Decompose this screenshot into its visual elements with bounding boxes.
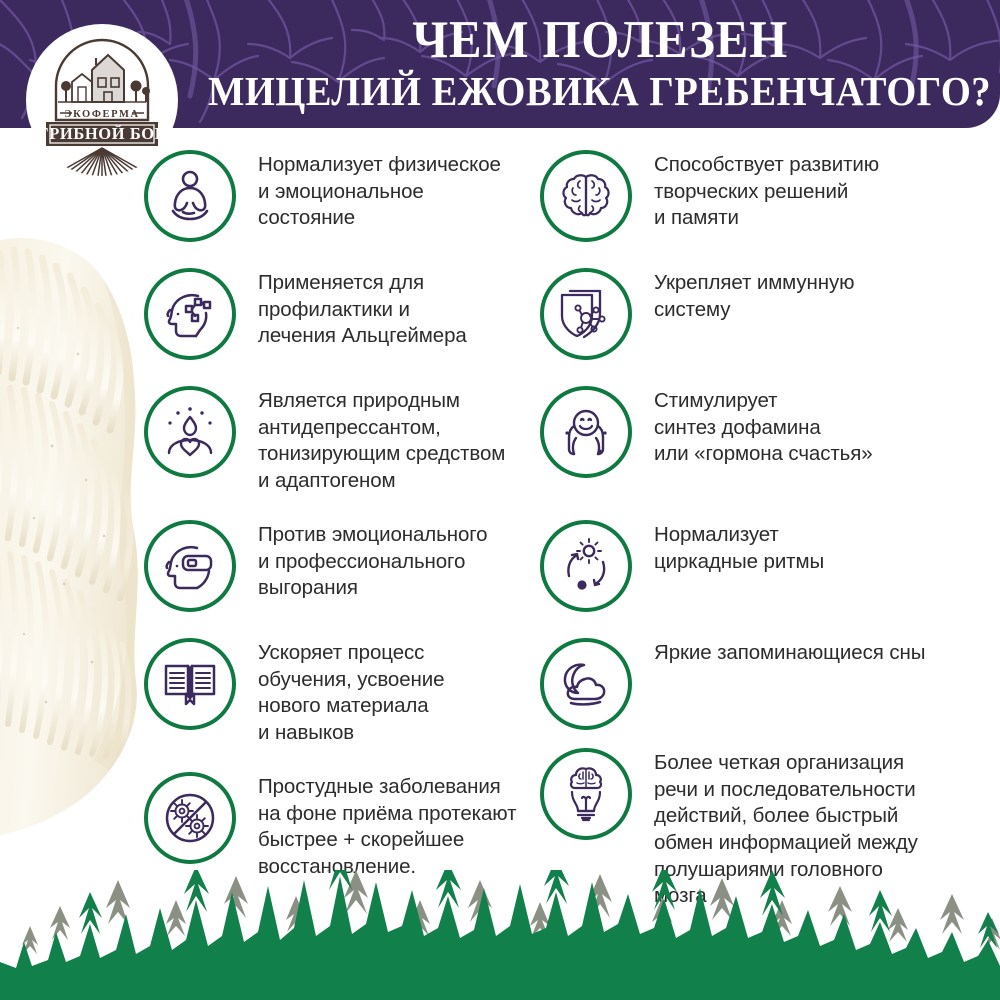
no-virus-icon	[144, 772, 236, 864]
benefit-item-10: Нормализует циркадные ритмы	[540, 520, 824, 612]
benefit-text: Против эмоционального и профессиональног…	[258, 520, 487, 602]
benefit-item-1: Нормализует физическое и эмоциональное с…	[144, 150, 501, 242]
benefit-text: Простудные заболевания на фоне приёма пр…	[258, 772, 516, 881]
benefit-item-6: Простудные заболевания на фоне приёма пр…	[144, 772, 516, 881]
sun-circadian-cycle-icon	[540, 520, 632, 612]
brand-logo[interactable]: ЭКОФЕРМА ГРИБНОЙ БОГ	[26, 24, 178, 176]
benefit-text: Способствует развитию творческих решений…	[654, 150, 879, 232]
benefit-text: Укрепляет иммунную систему	[654, 268, 854, 323]
logo-top-label: ЭКОФЕРМА	[64, 109, 139, 120]
benefit-text: Яркие запоминающиеся сны	[654, 638, 925, 667]
brain-icon	[540, 150, 632, 242]
benefits-content: Нормализует физическое и эмоциональное с…	[0, 128, 1000, 888]
head-puzzle-pixels-icon	[144, 268, 236, 360]
lightbulb-brain-icon	[540, 748, 632, 840]
benefit-item-11: Яркие запоминающиеся сны	[540, 638, 925, 730]
benefit-text: Ускоряет процесс обучения, усвоение ново…	[258, 638, 444, 747]
benefit-item-3: Является природным антидепрессантом, тон…	[144, 386, 505, 495]
benefit-text: Нормализует циркадные ритмы	[654, 520, 824, 575]
infographic-poster: ЧЕМ ПОЛЕЗЕН МИЦЕЛИЙ ЕЖОВИКА ГРЕБЕНЧАТОГО…	[0, 0, 1000, 1000]
logo-brand-name: ГРИБНОЙ БОГ	[38, 124, 166, 143]
benefit-text: Стимулирует синтез дофамина или «гормона…	[654, 386, 873, 468]
mood-heart-drop-icon	[144, 386, 236, 478]
conifer-forest-silhouette	[0, 870, 1000, 1000]
head-vr-headset-icon	[144, 520, 236, 612]
benefit-item-9: Стимулирует синтез дофамина или «гормона…	[540, 386, 873, 478]
benefit-text: Является природным антидепрессантом, тон…	[258, 386, 505, 495]
open-book-icon	[144, 638, 236, 730]
benefit-item-8: Укрепляет иммунную систему	[540, 268, 854, 360]
benefit-text: Нормализует физическое и эмоциональное с…	[258, 150, 501, 232]
farmhouse-logo-icon: ЭКОФЕРМА ГРИБНОЙ БОГ	[26, 24, 178, 176]
benefit-item-7: Способствует развитию творческих решений…	[540, 150, 879, 242]
hands-smiley-icon	[540, 386, 632, 478]
moon-cloud-dream-icon	[540, 638, 632, 730]
benefit-text: Применяется для профилактики и лечения А…	[258, 268, 467, 350]
benefit-item-4: Против эмоционального и профессиональног…	[144, 520, 487, 612]
benefit-item-5: Ускоряет процесс обучения, усвоение ново…	[144, 638, 444, 747]
benefit-item-2: Применяется для профилактики и лечения А…	[144, 268, 467, 360]
shield-molecule-icon	[540, 268, 632, 360]
